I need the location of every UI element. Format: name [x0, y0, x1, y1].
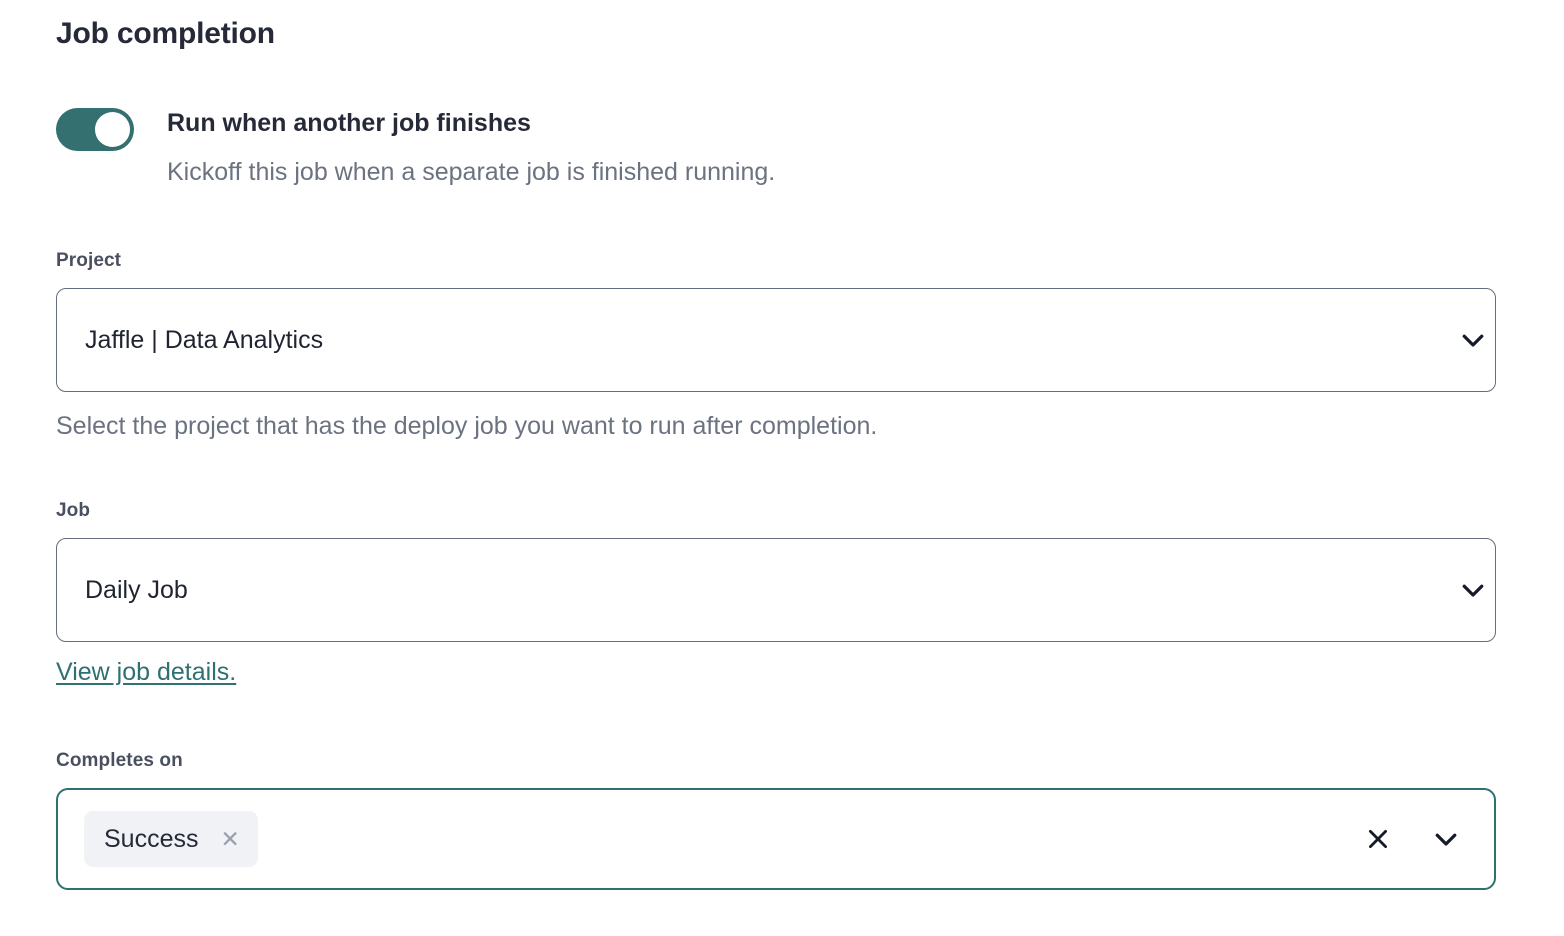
toggle-text-block: Run when another job finishes Kickoff th… — [167, 106, 775, 189]
project-select[interactable]: Jaffle | Data Analytics — [56, 288, 1496, 392]
run-when-another-job-finishes-toggle[interactable] — [56, 108, 134, 151]
run-when-another-job-finishes-row: Run when another job finishes Kickoff th… — [56, 106, 775, 189]
tag-label: Success — [104, 827, 198, 852]
project-help-text: Select the project that has the deploy j… — [56, 410, 877, 443]
job-select-value: Daily Job — [57, 576, 1451, 605]
chevron-down-icon[interactable] — [1451, 568, 1495, 612]
view-job-details-link[interactable]: View job details. — [56, 658, 236, 687]
completes-on-multiselect[interactable]: Success ✕ — [56, 788, 1496, 890]
close-icon[interactable]: ✕ — [216, 828, 243, 851]
job-label: Job — [56, 500, 90, 523]
job-completion-panel: Job completion Run when another job fini… — [0, 0, 1564, 936]
toggle-label: Run when another job finishes — [167, 107, 775, 140]
completes-on-label: Completes on — [56, 750, 183, 773]
project-label: Project — [56, 250, 121, 273]
toggle-knob — [95, 112, 130, 147]
page-title: Job completion — [56, 16, 275, 52]
project-select-value: Jaffle | Data Analytics — [57, 326, 1451, 355]
chevron-down-icon[interactable] — [1451, 318, 1495, 362]
close-icon[interactable] — [1358, 819, 1398, 859]
toggle-description: Kickoff this job when a separate job is … — [167, 156, 775, 190]
job-select[interactable]: Daily Job — [56, 538, 1496, 642]
completes-on-tag-success[interactable]: Success ✕ — [84, 811, 258, 867]
chevron-down-icon[interactable] — [1424, 817, 1468, 861]
